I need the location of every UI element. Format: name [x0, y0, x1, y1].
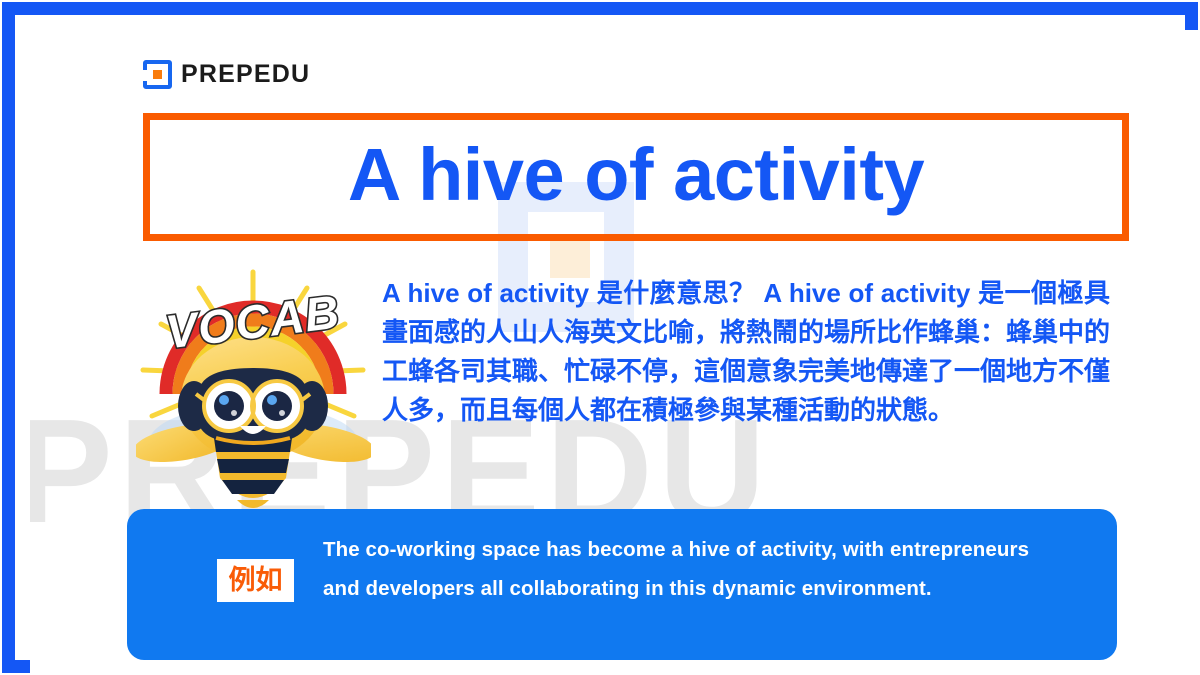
- brand-logo[interactable]: PREPEDU: [143, 60, 310, 89]
- example-badge-label: 例如: [229, 567, 283, 594]
- example-badge: 例如: [217, 559, 294, 602]
- vocab-card: PREPEDU PREPEDU A hive of activity: [0, 0, 1200, 675]
- card-inner-canvas: PREPEDU PREPEDU A hive of activity: [30, 30, 1200, 675]
- definition-text: A hive of activity 是什麼意思？ A hive of acti…: [382, 274, 1110, 430]
- example-box: 例如 The co-working space has become a hiv…: [127, 509, 1117, 660]
- page-title: A hive of activity: [348, 138, 924, 212]
- title-box: A hive of activity: [143, 113, 1129, 241]
- example-sentence: The co-working space has become a hive o…: [323, 530, 1063, 608]
- card-blue-frame: PREPEDU PREPEDU A hive of activity: [2, 2, 1198, 673]
- bee-mascot-icon: VOCAB: [136, 266, 371, 516]
- prepedu-logo-icon: [143, 60, 172, 89]
- brand-name-label: PREPEDU: [181, 62, 310, 87]
